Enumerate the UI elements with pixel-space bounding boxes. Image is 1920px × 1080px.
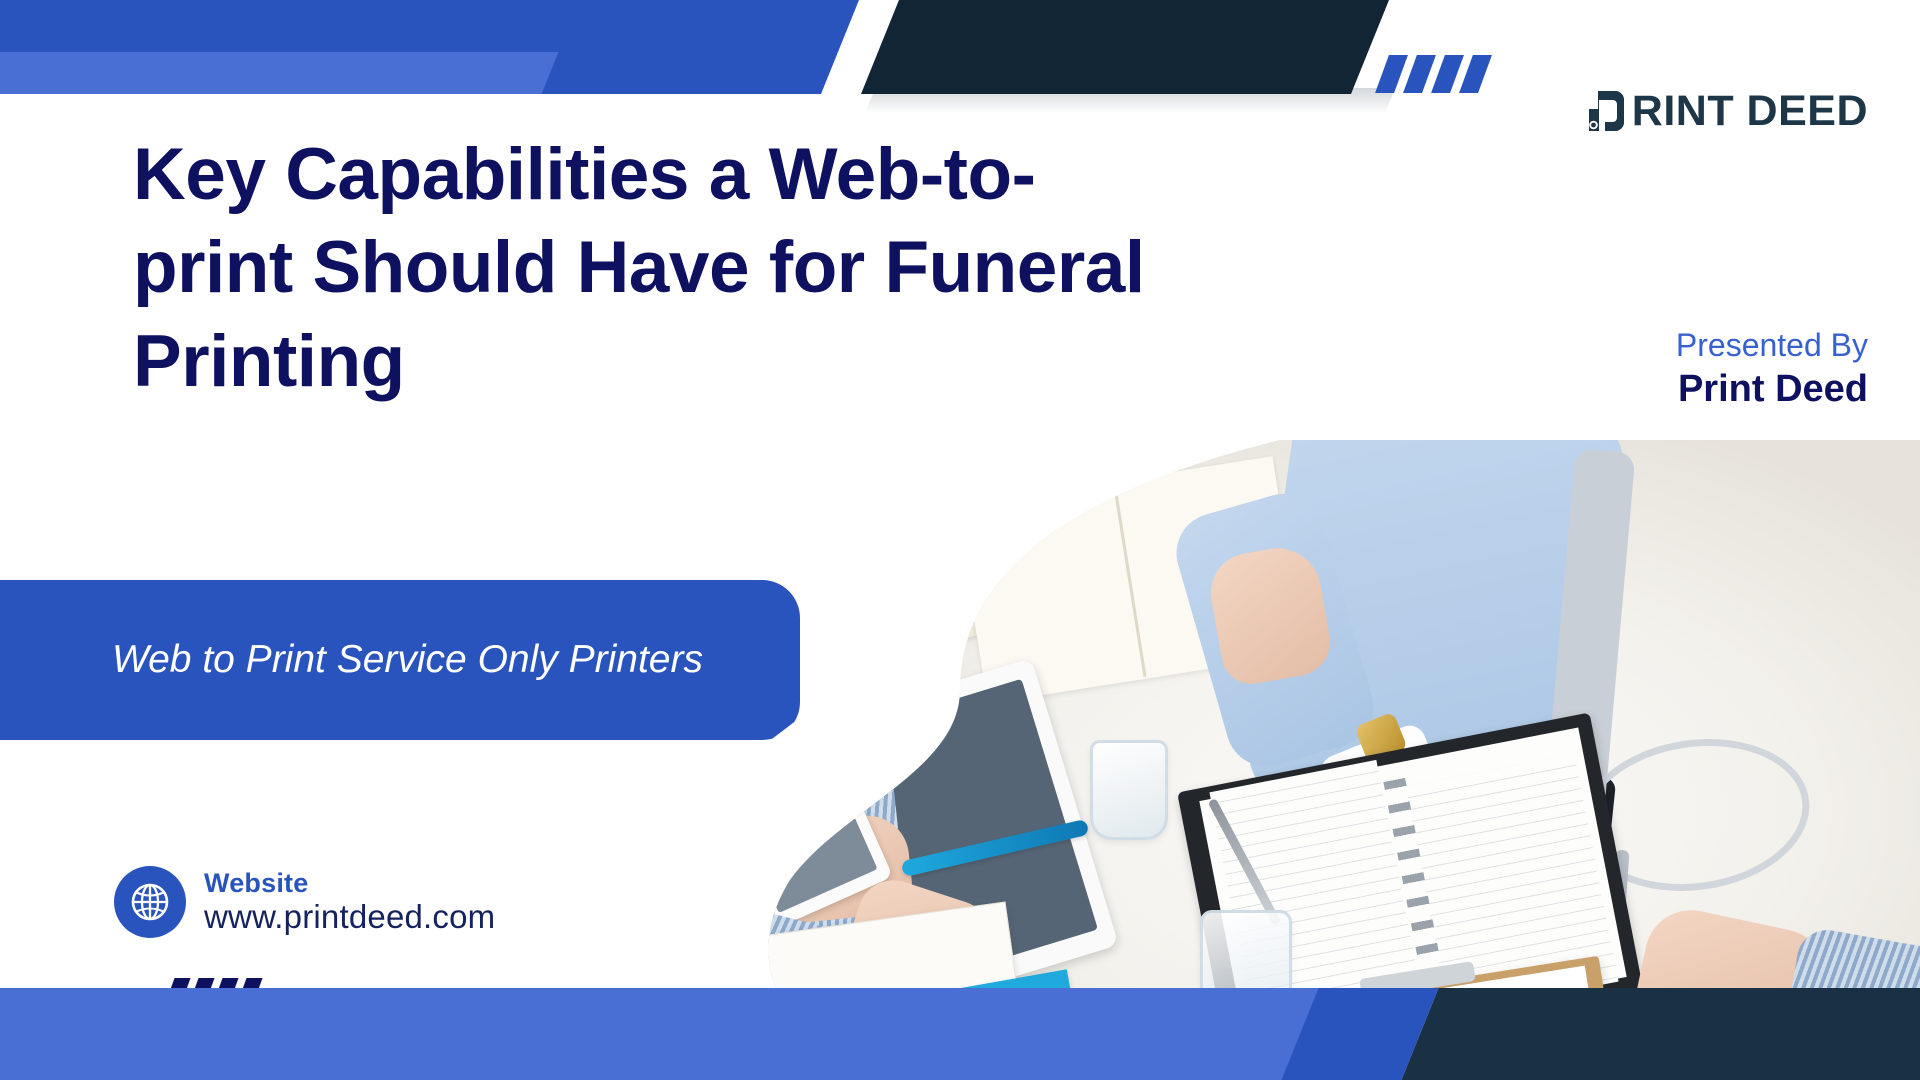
top-navy-parallelogram xyxy=(861,0,1389,94)
hand-top-left-2 xyxy=(835,588,955,693)
presentation-slide: RINT DEED xyxy=(0,0,1920,1080)
water-glass-1 xyxy=(1090,740,1168,840)
slash-mark xyxy=(1375,55,1408,93)
presented-by-block: Presented By Print Deed xyxy=(1676,326,1868,413)
subtitle-banner: Web to Print Service Only Printers xyxy=(0,580,800,740)
shirt-cuff xyxy=(836,574,961,640)
slash-mark xyxy=(1431,55,1464,93)
meeting-photo xyxy=(660,440,1920,1080)
gold-bracelet xyxy=(697,792,752,841)
globe-icon xyxy=(114,866,186,938)
website-block[interactable]: Website www.printdeed.com xyxy=(114,866,495,938)
subtitle-text: Web to Print Service Only Printers xyxy=(0,632,763,687)
website-label: Website xyxy=(204,868,495,898)
slide-title: Key Capabilities a Web-to-print Should H… xyxy=(133,128,1193,408)
hand-top-left xyxy=(759,440,897,558)
print-deed-p-monogram-icon xyxy=(1583,88,1629,134)
meeting-photo-container xyxy=(660,440,1920,1080)
presented-by-label: Presented By xyxy=(1676,326,1868,365)
person-gray-sleeve xyxy=(791,440,999,666)
bottom-light-blue-parallelogram xyxy=(0,988,1319,1080)
slash-mark xyxy=(1459,55,1492,93)
presenter-name: Print Deed xyxy=(1676,367,1868,413)
top-slash-marks xyxy=(1382,55,1485,93)
logo-wordmark: RINT DEED xyxy=(1632,90,1868,133)
website-text-group: Website www.printdeed.com xyxy=(204,868,495,935)
website-url[interactable]: www.printdeed.com xyxy=(204,899,495,936)
slash-mark xyxy=(1403,55,1436,93)
top-light-blue-band xyxy=(0,52,558,94)
bottom-navy-parallelogram xyxy=(1401,988,1920,1080)
brand-logo[interactable]: RINT DEED xyxy=(1583,88,1868,134)
